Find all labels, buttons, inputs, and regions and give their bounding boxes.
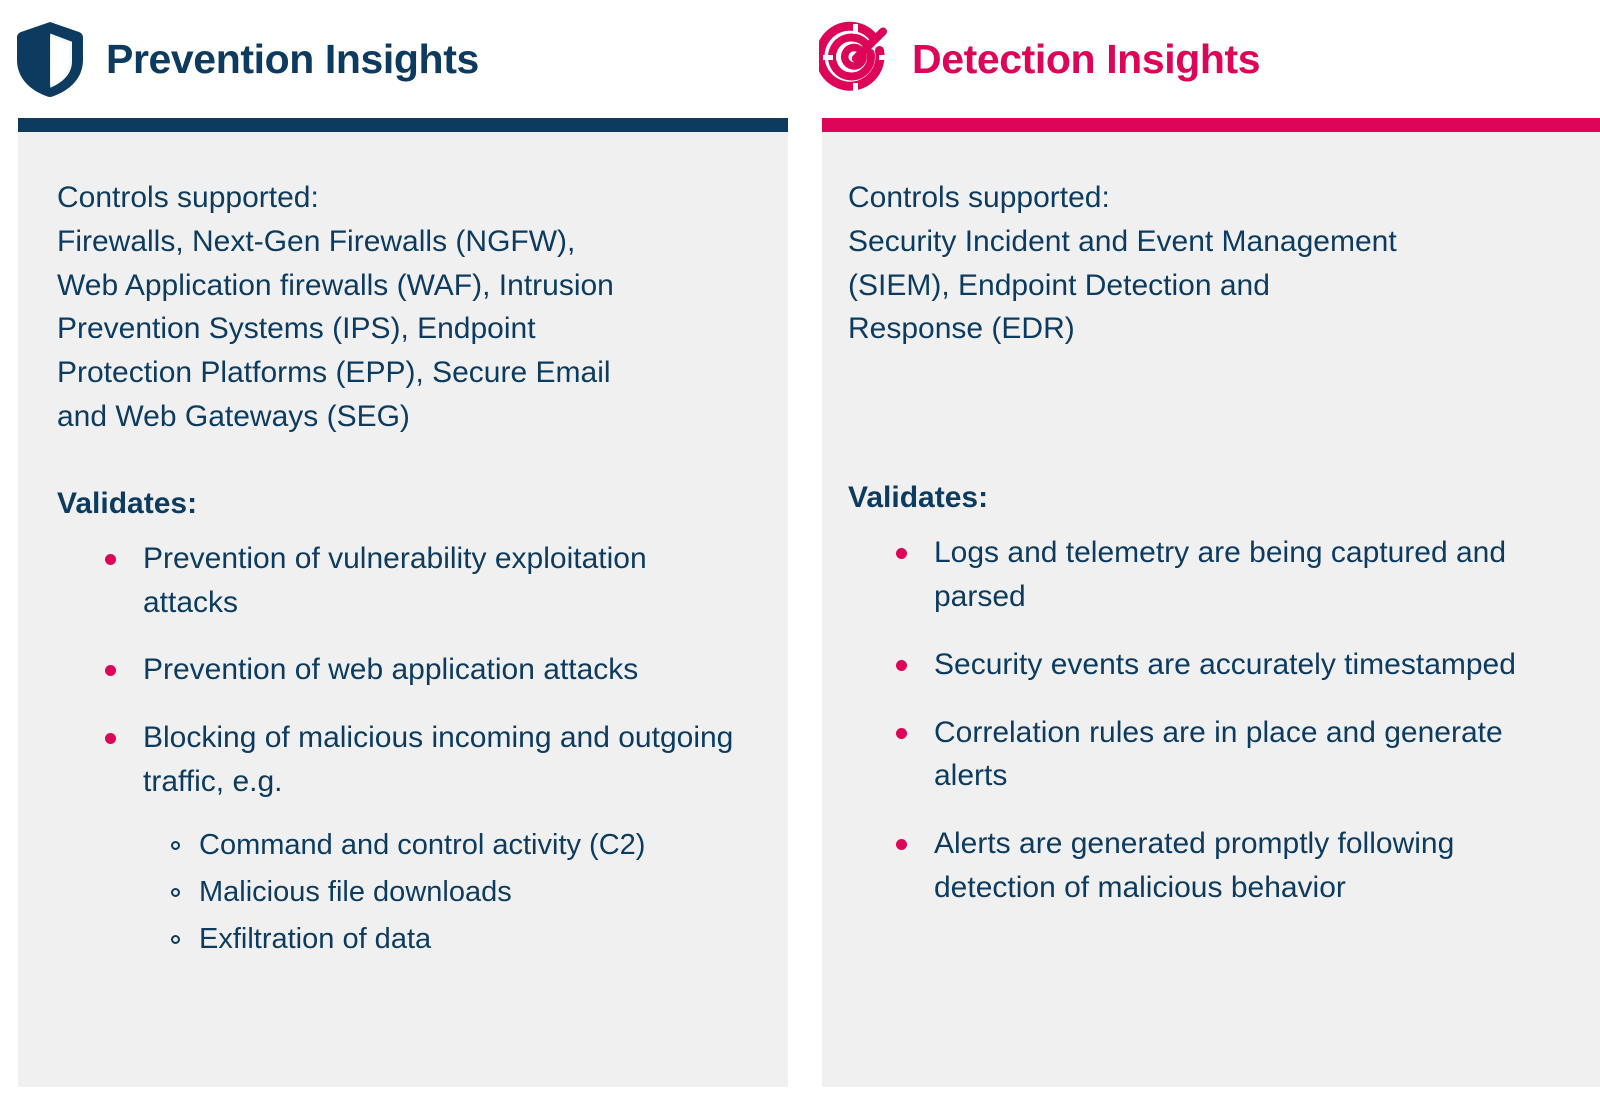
list-item: Prevention of web application attacks xyxy=(101,648,746,692)
prevention-header: Prevention Insights xyxy=(14,0,788,118)
list-item-text: Logs and telemetry are being captured an… xyxy=(934,536,1506,613)
controls-line: (SIEM), Endpoint Detection and xyxy=(848,264,1538,308)
controls-line: Firewalls, Next-Gen Firewalls (NGFW), xyxy=(57,220,746,264)
bullet-ring-icon xyxy=(171,888,180,897)
controls-line: and Web Gateways (SEG) xyxy=(57,395,746,439)
list-item-text: Security events are accurately timestamp… xyxy=(934,648,1516,681)
bullet-ring-icon xyxy=(171,841,180,850)
prevention-panel: Controls supported: Firewalls, Next-Gen … xyxy=(18,132,788,1087)
bullet-dot-icon xyxy=(105,554,116,565)
sub-list-item: Exfiltration of data xyxy=(169,916,746,963)
sub-list-item: Command and control activity (C2) xyxy=(169,822,746,869)
list-item: Prevention of vulnerability exploitation… xyxy=(101,537,746,625)
page-title-detection: Detection Insights xyxy=(912,39,1260,80)
insights-board: Prevention Insights Controls supported: … xyxy=(0,0,1600,1095)
list-item-text: Prevention of vulnerability exploitation… xyxy=(143,542,647,619)
detection-accent-rule xyxy=(822,118,1600,132)
sub-list-item-text: Command and control activity (C2) xyxy=(199,829,645,861)
sub-list-item: Malicious file downloads xyxy=(169,869,746,916)
list-item: Blocking of malicious incoming and outgo… xyxy=(101,716,746,963)
detection-validates-label: Validates: xyxy=(848,481,1560,515)
target-arrow-icon xyxy=(818,19,894,99)
list-item: Alerts are generated promptly following … xyxy=(892,822,1560,910)
detection-header: Detection Insights xyxy=(818,0,1600,118)
bullet-dot-icon xyxy=(105,665,116,676)
bullet-dot-icon xyxy=(896,548,907,559)
prevention-validates-label: Validates: xyxy=(57,487,746,521)
bullet-dot-icon xyxy=(896,839,907,850)
page-title-prevention: Prevention Insights xyxy=(106,39,479,80)
prevention-traffic-examples-list: Command and control activity (C2) Malici… xyxy=(143,822,746,964)
controls-line: Web Application firewalls (WAF), Intrusi… xyxy=(57,264,746,308)
prevention-accent-rule xyxy=(18,118,788,132)
list-item-text: Prevention of web application attacks xyxy=(143,653,638,686)
bullet-dot-icon xyxy=(105,733,116,744)
list-item-text: Correlation rules are in place and gener… xyxy=(934,716,1503,793)
list-item-text: Blocking of malicious incoming and outgo… xyxy=(143,721,733,798)
controls-line: Security Incident and Event Management xyxy=(848,220,1538,264)
list-item: Security events are accurately timestamp… xyxy=(892,643,1560,687)
prevention-controls-supported: Controls supported: Firewalls, Next-Gen … xyxy=(57,176,746,439)
detection-validates-list: Logs and telemetry are being captured an… xyxy=(848,531,1560,910)
prevention-insights-column: Prevention Insights Controls supported: … xyxy=(18,0,788,1087)
detection-insights-column: Detection Insights Controls supported: S… xyxy=(822,0,1600,1087)
list-item: Logs and telemetry are being captured an… xyxy=(892,531,1560,619)
detection-panel: Controls supported: Security Incident an… xyxy=(822,132,1600,1087)
shield-icon xyxy=(14,19,86,99)
bullet-dot-icon xyxy=(896,728,907,739)
list-item: Correlation rules are in place and gener… xyxy=(892,711,1560,799)
sub-list-item-text: Malicious file downloads xyxy=(199,876,512,908)
controls-line: Protection Platforms (EPP), Secure Email xyxy=(57,351,746,395)
bullet-ring-icon xyxy=(171,935,180,944)
controls-supported-label: Controls supported: xyxy=(57,176,746,220)
list-item-text: Alerts are generated promptly following … xyxy=(934,827,1454,904)
bullet-dot-icon xyxy=(896,660,907,671)
sub-list-item-text: Exfiltration of data xyxy=(199,923,431,955)
controls-line: Response (EDR) xyxy=(848,307,1538,351)
controls-line: Prevention Systems (IPS), Endpoint xyxy=(57,307,746,351)
detection-controls-supported: Controls supported: Security Incident an… xyxy=(848,176,1538,351)
controls-supported-label: Controls supported: xyxy=(848,176,1538,220)
prevention-validates-list: Prevention of vulnerability exploitation… xyxy=(57,537,746,964)
